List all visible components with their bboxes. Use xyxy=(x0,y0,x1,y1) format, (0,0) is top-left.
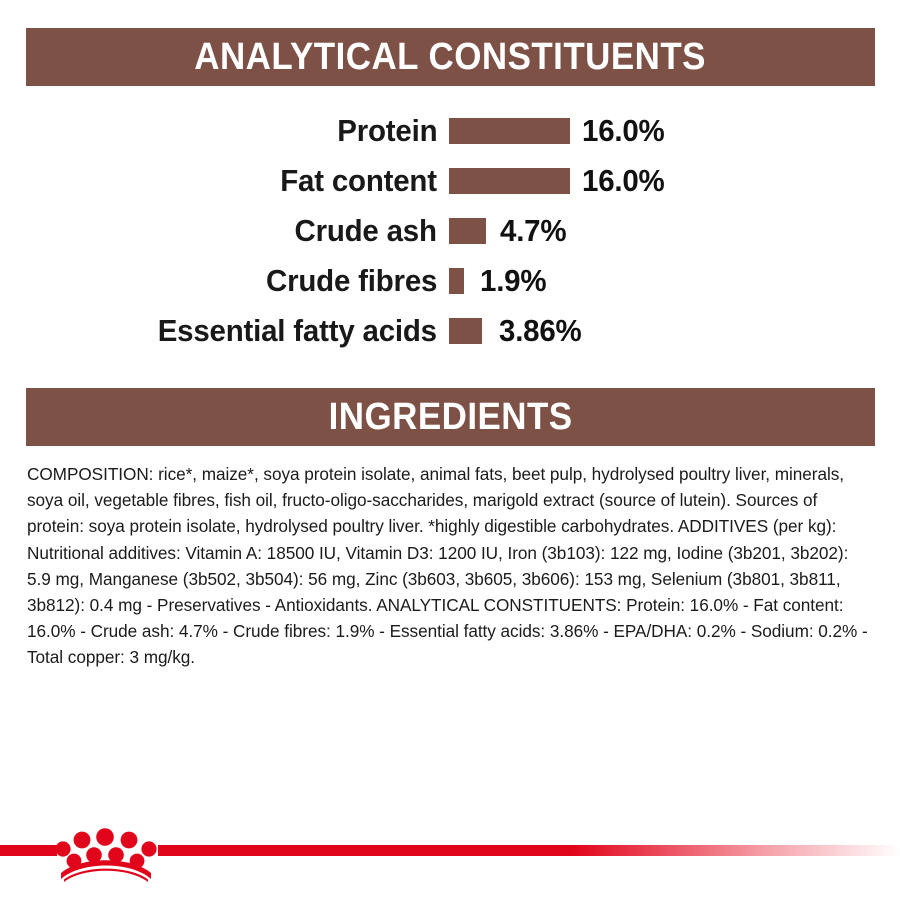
constituent-value: 1.9% xyxy=(480,263,546,299)
product-label-page: ANALYTICAL CONSTITUENTS Protein 16.0% Fa… xyxy=(0,0,900,900)
constituent-row: Crude ash 4.7% xyxy=(0,206,900,256)
constituent-label: Crude fibres xyxy=(266,263,437,299)
constituent-row: Crude fibres 1.9% xyxy=(0,256,900,306)
brand-footer xyxy=(0,820,900,900)
ingredients-header: INGREDIENTS xyxy=(26,388,875,446)
constituent-label: Crude ash xyxy=(295,213,437,249)
constituent-value: 16.0% xyxy=(582,163,665,199)
constituent-bar-wrap xyxy=(449,318,482,344)
constituent-row: Protein 16.0% xyxy=(0,106,900,156)
analytical-constituents-title: ANALYTICAL CONSTITUENTS xyxy=(195,38,707,76)
analytical-constituents-chart: Protein 16.0% Fat content 16.0% Crude as… xyxy=(0,106,900,356)
constituent-bar xyxy=(449,268,464,294)
constituent-label: Protein xyxy=(337,113,437,149)
analytical-constituents-header: ANALYTICAL CONSTITUENTS xyxy=(26,28,875,86)
constituent-bar-wrap xyxy=(449,218,486,244)
constituent-bar xyxy=(449,318,482,344)
constituent-bar-wrap xyxy=(449,268,464,294)
royal-canin-crown-logo xyxy=(55,820,161,882)
constituent-bar xyxy=(449,218,486,244)
constituent-bar xyxy=(449,168,570,194)
ingredients-composition-text: COMPOSITION: rice*, maize*, soya protein… xyxy=(27,461,875,671)
constituent-bar xyxy=(449,118,570,144)
constituent-value: 16.0% xyxy=(582,113,665,149)
constituent-row: Fat content 16.0% xyxy=(0,156,900,206)
constituent-row: Essential fatty acids 3.86% xyxy=(0,306,900,356)
ingredients-title: INGREDIENTS xyxy=(328,398,572,436)
constituent-bar-wrap xyxy=(449,168,570,194)
constituent-label: Fat content xyxy=(280,163,437,199)
footer-rule-right xyxy=(158,845,900,856)
footer-rule-left xyxy=(0,845,57,856)
constituent-value: 3.86% xyxy=(499,313,582,349)
constituent-bar-wrap xyxy=(449,118,570,144)
constituent-label: Essential fatty acids xyxy=(158,313,437,349)
constituent-value: 4.7% xyxy=(500,213,566,249)
